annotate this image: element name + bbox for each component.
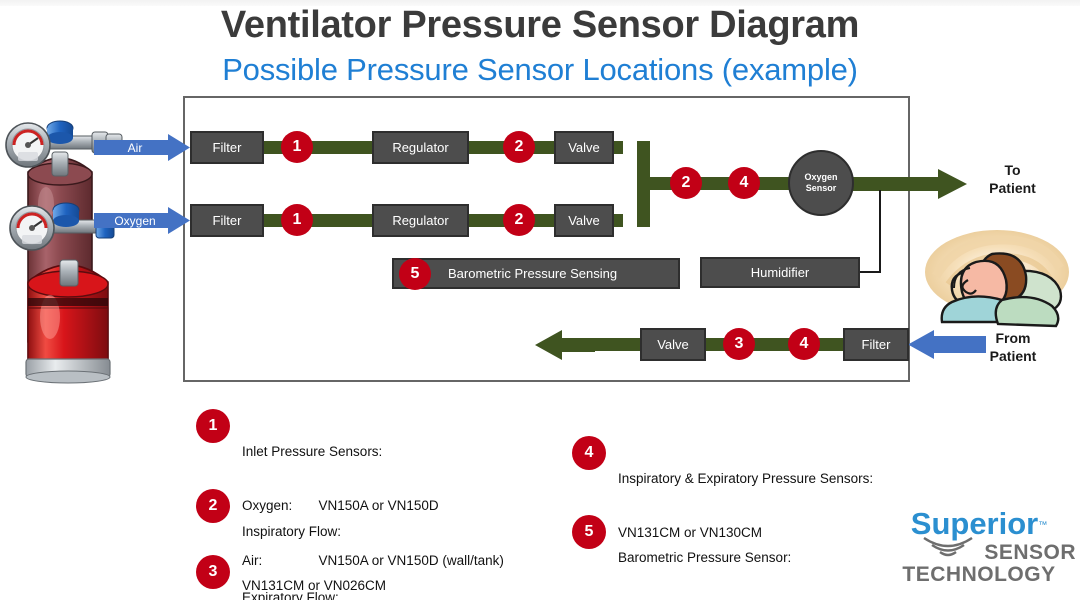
page-title: Ventilator Pressure Sensor Diagram — [0, 4, 1080, 47]
inlet-label-air: Air — [94, 134, 190, 161]
inlet-label-oxygen: Oxygen — [94, 207, 190, 234]
diagram-canvas: Ventilator Pressure Sensor Diagram Possi… — [0, 0, 1080, 600]
legend-3-line-1: Expiratory Flow: — [242, 589, 386, 600]
legend-badge-2[interactable]: 2 — [196, 489, 230, 523]
caption-to-patient-line1: To — [965, 162, 1060, 180]
block-filter-oxygen[interactable]: Filter — [190, 204, 264, 237]
badge-4-expiratory[interactable]: 4 — [788, 328, 820, 360]
page-subtitle: Possible Pressure Sensor Locations (exam… — [0, 52, 1080, 88]
pipe-merge-riser — [637, 141, 650, 227]
block-barometric-pressure-sensing[interactable]: Barometric Pressure Sensing — [392, 258, 680, 289]
badge-3-expiratory[interactable]: 3 — [723, 328, 755, 360]
arrow-exhaust-left — [535, 329, 595, 361]
inlet-arrow-oxygen: Oxygen — [94, 207, 190, 234]
humidifier-branch-horizontal — [858, 271, 881, 273]
logo-trademark-icon: ™ — [1038, 520, 1047, 530]
badge-2-merged[interactable]: 2 — [670, 167, 702, 199]
legend-5-line-1: Barometric Pressure Sensor: — [618, 549, 791, 567]
oxygen-sensor[interactable]: Oxygen Sensor — [788, 150, 854, 216]
block-regulator-air[interactable]: Regulator — [372, 131, 469, 164]
arrow-from-patient — [908, 330, 986, 359]
inlet-arrow-air: Air — [94, 134, 190, 161]
legend-badge-5[interactable]: 5 — [572, 515, 606, 549]
legend-2-line-1: Inspiratory Flow: — [242, 523, 386, 541]
badge-4-inspiratory[interactable]: 4 — [728, 167, 760, 199]
legend-badge-1[interactable]: 1 — [196, 409, 230, 443]
legend-1-line-1: Inlet Pressure Sensors: — [242, 443, 504, 461]
badge-1-oxygen[interactable]: 1 — [281, 204, 313, 236]
arrow-to-patient — [852, 168, 967, 200]
humidifier-branch-vertical — [879, 190, 881, 272]
legend-badge-3[interactable]: 3 — [196, 555, 230, 589]
logo-word-technology: TECHNOLOGY — [880, 564, 1078, 586]
company-logo: Superior™ SENSOR TECHNOLOGY — [880, 508, 1078, 586]
badge-5-barometric[interactable]: 5 — [399, 258, 431, 290]
badge-1-air[interactable]: 1 — [281, 131, 313, 163]
badge-2-oxygen[interactable]: 2 — [503, 204, 535, 236]
logo-sensor-waves-icon — [920, 532, 976, 558]
caption-to-patient: To Patient — [965, 162, 1060, 197]
block-filter-expiratory[interactable]: Filter — [843, 328, 909, 361]
legend-4-line-1: Inspiratory & Expiratory Pressure Sensor… — [618, 470, 873, 488]
legend-text-3: Expiratory Flow: VN026CM or VN025CM — [242, 553, 386, 600]
oxygen-sensor-label-1: Oxygen — [804, 172, 837, 183]
caption-to-patient-line2: Patient — [965, 180, 1060, 198]
legend-badge-4[interactable]: 4 — [572, 436, 606, 470]
block-valve-oxygen[interactable]: Valve — [554, 204, 614, 237]
patient-illustration — [918, 228, 1076, 328]
legend-text-5: Barometric Pressure Sensor: (volumetric … — [618, 513, 791, 600]
block-filter-air[interactable]: Filter — [190, 131, 264, 164]
block-humidifier[interactable]: Humidifier — [700, 257, 860, 288]
block-regulator-oxygen[interactable]: Regulator — [372, 204, 469, 237]
block-valve-air[interactable]: Valve — [554, 131, 614, 164]
logo-word-sensor: SENSOR — [880, 542, 1078, 564]
block-valve-expiratory[interactable]: Valve — [640, 328, 706, 361]
badge-2-air[interactable]: 2 — [503, 131, 535, 163]
oxygen-sensor-label-2: Sensor — [806, 183, 837, 194]
